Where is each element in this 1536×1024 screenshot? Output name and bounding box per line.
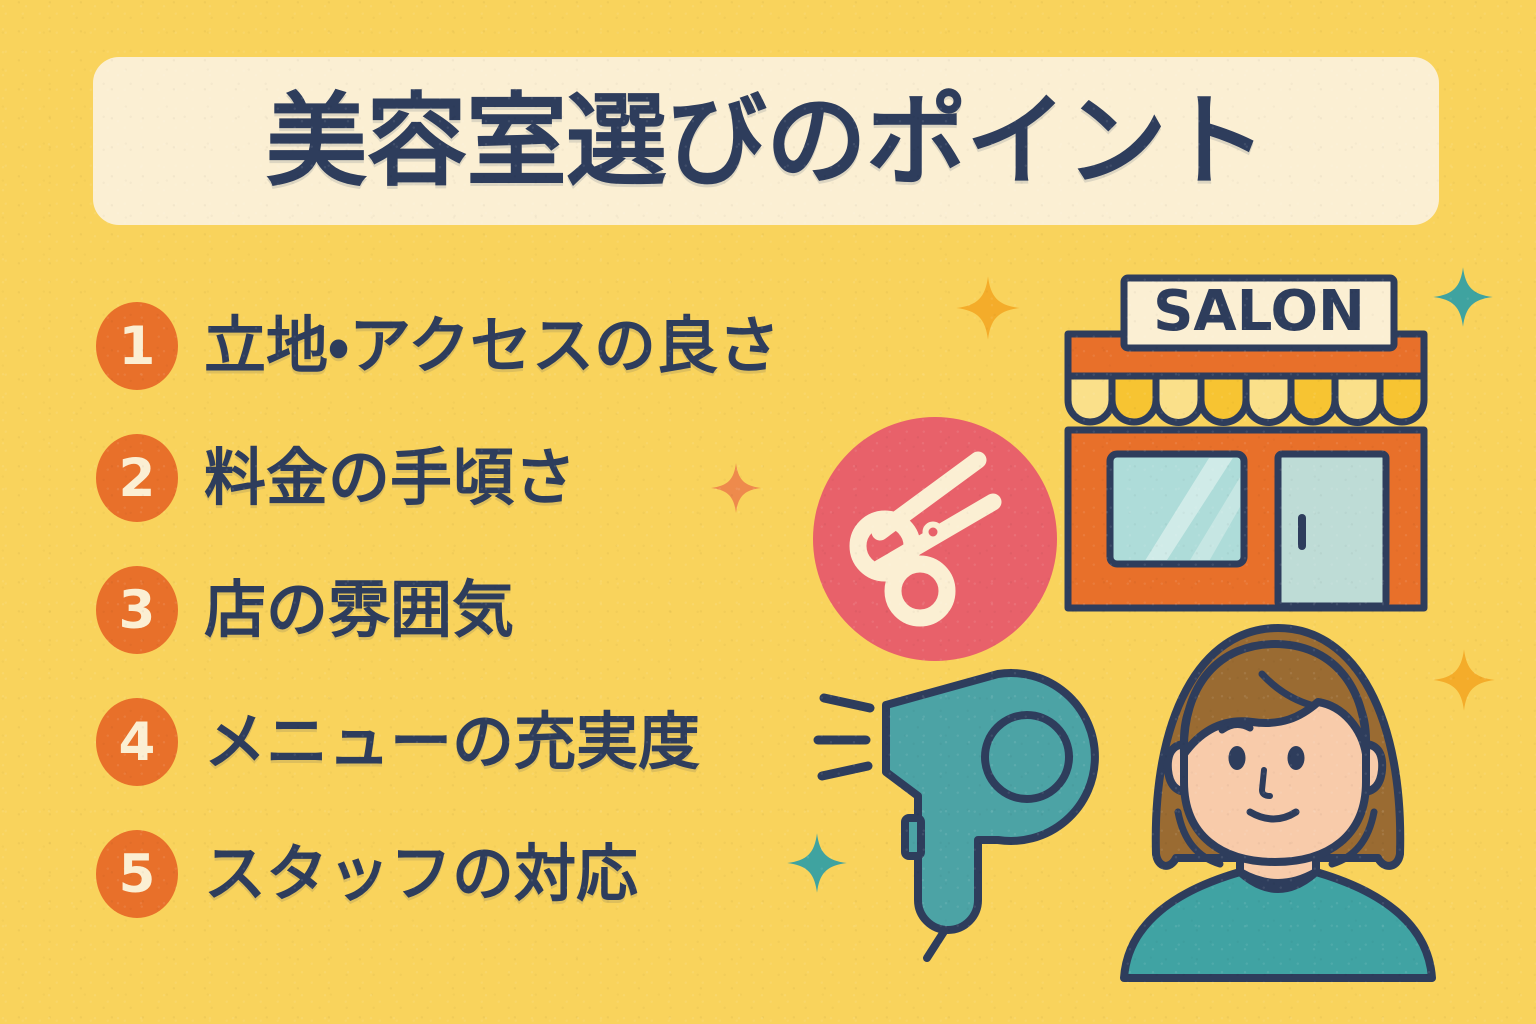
point-label-1: 立地・アクセスの良さ — [204, 315, 780, 377]
point-number-badge-5: 5 — [96, 830, 178, 918]
points-list: 1 立地・アクセスの良さ 2 料金の手頃さ 3 店の雰囲気 4 メニューの充実度… — [96, 300, 916, 920]
point-label-4: メニューの充実度 — [204, 711, 700, 773]
airflow-lines — [818, 698, 870, 776]
salon-sign-text: SALON — [1153, 279, 1365, 344]
page-title: 美容室選びのポイント — [266, 91, 1266, 192]
eye-left — [1229, 746, 1246, 770]
point-number-badge-4: 4 — [96, 698, 178, 786]
point-label-2: 料金の手頃さ — [204, 447, 576, 509]
point-number-badge-3: 3 — [96, 566, 178, 654]
list-item: 3 店の雰囲気 — [96, 564, 916, 656]
point-label-5: スタッフの対応 — [204, 843, 638, 905]
point-label-3: 店の雰囲気 — [204, 579, 514, 641]
sparkle-gold-top — [955, 275, 1021, 341]
eye-right — [1288, 746, 1305, 770]
list-item: 1 立地・アクセスの良さ — [96, 300, 916, 392]
salon-storefront-illustration: SALON — [1046, 262, 1446, 622]
woman-portrait-illustration — [1112, 622, 1442, 982]
sparkle-teal-bottom — [786, 832, 848, 894]
sparkle-teal-top-right — [1432, 266, 1494, 328]
list-item: 4 メニューの充実度 — [96, 696, 916, 788]
point-number-badge-1: 1 — [96, 302, 178, 390]
title-card: 美容室選びのポイント — [93, 57, 1439, 225]
sparkle-orange-mid — [710, 462, 762, 514]
poster-canvas: 美容室選びのポイント 1 立地・アクセスの良さ 2 料金の手頃さ 3 店の雰囲気… — [0, 0, 1536, 1024]
hairdryer-illustration — [812, 662, 1132, 974]
point-number-badge-2: 2 — [96, 434, 178, 522]
sparkle-gold-right — [1432, 648, 1496, 712]
scissors-circle-icon — [810, 414, 1060, 664]
list-item: 2 料金の手頃さ — [96, 432, 916, 524]
